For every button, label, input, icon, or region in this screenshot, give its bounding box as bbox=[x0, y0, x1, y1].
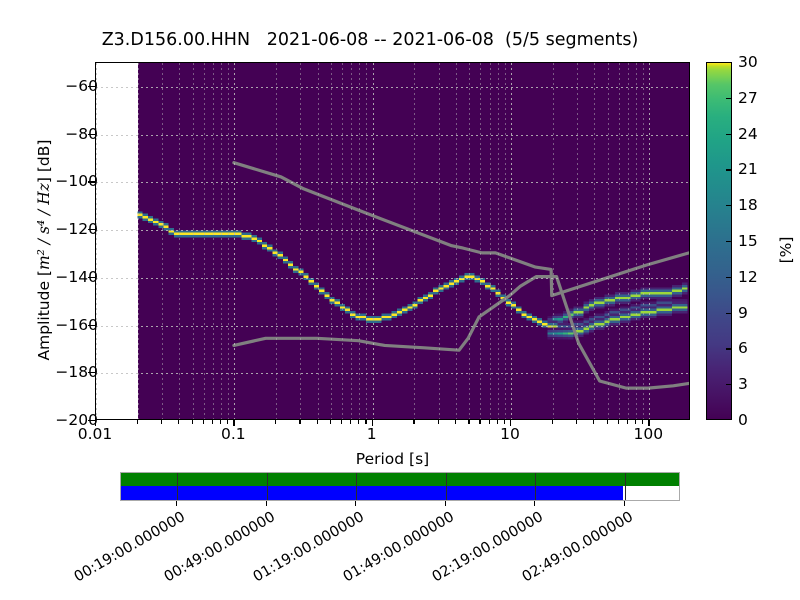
gridline-vertical bbox=[649, 63, 650, 419]
timeline-tick-mark bbox=[624, 501, 625, 506]
histogram-cell bbox=[651, 304, 656, 306]
x-axis-tick-mark-minor bbox=[642, 420, 643, 424]
histogram-cell bbox=[278, 254, 283, 256]
histogram-cell bbox=[651, 297, 656, 299]
histogram-cell bbox=[418, 299, 423, 301]
histogram-cell bbox=[392, 316, 397, 318]
histogram-cell bbox=[661, 294, 666, 296]
y-axis-tick-mark bbox=[88, 181, 95, 182]
histogram-cell bbox=[433, 290, 438, 292]
histogram-cell bbox=[542, 321, 547, 323]
histogram-cell bbox=[672, 299, 677, 301]
gridline-vertical-minor bbox=[490, 63, 491, 419]
histogram-cell bbox=[246, 237, 251, 239]
x-axis-tick-mark-minor bbox=[330, 420, 331, 424]
histogram-cell bbox=[656, 292, 661, 294]
histogram-cell bbox=[656, 309, 661, 311]
histogram-cell bbox=[563, 337, 568, 339]
histogram-cell bbox=[661, 292, 666, 294]
gridline-vertical-minor bbox=[577, 63, 578, 419]
histogram-cell bbox=[148, 218, 153, 220]
histogram-cell bbox=[682, 311, 687, 313]
histogram-cell bbox=[444, 285, 449, 287]
x-axis-tick-mark-minor bbox=[178, 420, 179, 424]
histogram-cell bbox=[288, 266, 293, 268]
histogram-cell bbox=[620, 309, 625, 311]
histogram-cell bbox=[267, 247, 272, 249]
y-axis-label: Amplitude [m² / s⁴ / Hz] [dB] bbox=[35, 40, 53, 460]
histogram-cell bbox=[661, 302, 666, 304]
histogram-cell bbox=[630, 309, 635, 311]
histogram-cell bbox=[630, 290, 635, 292]
histogram-cell bbox=[558, 335, 563, 337]
histogram-cell bbox=[610, 311, 615, 313]
histogram-cell bbox=[651, 294, 656, 296]
x-axis-tick-mark-minor bbox=[358, 420, 359, 424]
histogram-cell bbox=[527, 318, 532, 320]
timeline-tick-mark bbox=[445, 501, 446, 506]
histogram-cell bbox=[584, 302, 589, 304]
histogram-cell bbox=[578, 313, 583, 315]
histogram-cell bbox=[568, 332, 573, 334]
histogram-cell bbox=[630, 316, 635, 318]
histogram-cell bbox=[397, 313, 402, 315]
gridline-vertical bbox=[373, 63, 374, 419]
colorbar-tick-label: 30 bbox=[738, 53, 758, 71]
histogram-cell bbox=[215, 235, 220, 237]
histogram-cell bbox=[563, 328, 568, 330]
histogram-cell bbox=[677, 309, 682, 311]
histogram-cell bbox=[532, 321, 537, 323]
x-axis-tick-label: 100 bbox=[634, 425, 664, 443]
histogram-cell bbox=[578, 306, 583, 308]
x-axis-tick-mark-minor bbox=[497, 420, 498, 424]
histogram-cell bbox=[661, 306, 666, 308]
ppsd-plot-axes[interactable] bbox=[95, 62, 690, 420]
histogram-cell bbox=[402, 309, 407, 311]
histogram-cell bbox=[682, 304, 687, 306]
timeline-tick bbox=[267, 473, 268, 500]
page-title: Z3.D156.00.HHN 2021-06-08 -- 2021-06-08 … bbox=[0, 30, 740, 50]
colorbar-tick-mark bbox=[726, 277, 732, 278]
histogram-cell bbox=[407, 304, 412, 306]
histogram-cell bbox=[402, 306, 407, 308]
gridline-vertical-minor bbox=[204, 63, 205, 419]
histogram-cell bbox=[449, 280, 454, 282]
histogram-cell bbox=[257, 240, 262, 242]
histogram-cell bbox=[516, 309, 521, 311]
histogram-cell bbox=[236, 233, 241, 235]
histogram-cell bbox=[376, 318, 381, 320]
histogram-cell bbox=[661, 290, 666, 292]
histogram-cell bbox=[563, 316, 568, 318]
histogram-cell bbox=[656, 302, 661, 304]
gridline-vertical bbox=[511, 63, 512, 419]
histogram-cell bbox=[630, 299, 635, 301]
histogram-cell bbox=[656, 294, 661, 296]
histogram-cell bbox=[677, 299, 682, 301]
histogram-cell bbox=[651, 290, 656, 292]
y-axis-label-units: m² / s⁴ / Hz bbox=[35, 183, 53, 270]
colorbar-tick-label: 12 bbox=[738, 268, 758, 286]
histogram-cell bbox=[677, 292, 682, 294]
histogram-cell bbox=[667, 294, 672, 296]
histogram-cell bbox=[558, 332, 563, 334]
x-axis-tick-mark-minor bbox=[504, 420, 505, 424]
histogram-cell bbox=[407, 309, 412, 311]
histogram-cell bbox=[667, 297, 672, 299]
histogram-cell bbox=[682, 285, 687, 287]
histogram-cell bbox=[677, 311, 682, 313]
histogram-cell bbox=[682, 302, 687, 304]
histogram-cell bbox=[584, 311, 589, 313]
histogram-cell bbox=[288, 264, 293, 266]
histogram-cell bbox=[610, 316, 615, 318]
histogram-cell bbox=[667, 290, 672, 292]
histogram-cell bbox=[677, 290, 682, 292]
histogram-cell bbox=[381, 316, 386, 318]
histogram-cell bbox=[630, 294, 635, 296]
histogram-cell bbox=[630, 297, 635, 299]
gridline-horizontal bbox=[96, 278, 689, 279]
histogram-cell bbox=[651, 311, 656, 313]
histogram-cell bbox=[236, 235, 241, 237]
timeline-tick bbox=[625, 473, 626, 500]
histogram-cell bbox=[319, 290, 324, 292]
histogram-cell bbox=[304, 273, 309, 275]
histogram-cell bbox=[677, 306, 682, 308]
histogram-cell bbox=[335, 302, 340, 304]
histogram-cell bbox=[527, 316, 532, 318]
histogram-cell bbox=[335, 304, 340, 306]
histogram-cell bbox=[677, 287, 682, 289]
histogram-cell bbox=[610, 309, 615, 311]
histogram-cell bbox=[205, 235, 210, 237]
histogram-cell bbox=[584, 318, 589, 320]
histogram-cell bbox=[578, 309, 583, 311]
histogram-cell bbox=[578, 335, 583, 337]
x-axis-tick-mark bbox=[233, 420, 234, 426]
histogram-cell bbox=[153, 221, 158, 223]
x-axis-tick-mark-minor bbox=[212, 420, 213, 424]
histogram-cell bbox=[682, 306, 687, 308]
gridline-vertical-minor bbox=[498, 63, 499, 419]
histogram-cell bbox=[174, 233, 179, 235]
ppsd-data-area bbox=[96, 63, 689, 419]
gridline-vertical-minor bbox=[162, 63, 163, 419]
histogram-cell bbox=[252, 235, 257, 237]
histogram-cell bbox=[345, 311, 350, 313]
histogram-cell bbox=[584, 304, 589, 306]
x-axis-tick-mark-minor bbox=[438, 420, 439, 424]
histogram-cell bbox=[252, 237, 257, 239]
histogram-cell bbox=[599, 328, 604, 330]
histogram-cell bbox=[661, 313, 666, 315]
colorbar-tick-mark bbox=[726, 348, 732, 349]
histogram-cell bbox=[584, 330, 589, 332]
gridline-horizontal bbox=[96, 373, 689, 374]
histogram-cell bbox=[672, 304, 677, 306]
histogram-cell bbox=[589, 330, 594, 332]
histogram-cell bbox=[262, 242, 267, 244]
histogram-cell bbox=[651, 313, 656, 315]
gridline-vertical-minor bbox=[628, 63, 629, 419]
gridline-vertical-minor bbox=[505, 63, 506, 419]
gridline-vertical-minor bbox=[359, 63, 360, 419]
gridline-vertical-minor bbox=[643, 63, 644, 419]
gridline-vertical-minor bbox=[342, 63, 343, 419]
x-axis-tick-mark-minor bbox=[275, 420, 276, 424]
histogram-cell bbox=[423, 294, 428, 296]
gridline-vertical-minor bbox=[221, 63, 222, 419]
histogram-cell bbox=[143, 216, 148, 218]
gridline-vertical-minor bbox=[480, 63, 481, 419]
histogram-cell bbox=[578, 321, 583, 323]
histogram-cell bbox=[599, 313, 604, 315]
histogram-cell bbox=[630, 292, 635, 294]
histogram-cell bbox=[672, 311, 677, 313]
x-axis-tick-mark bbox=[510, 420, 511, 426]
histogram-cell bbox=[599, 321, 604, 323]
histogram-cell bbox=[433, 287, 438, 289]
colorbar-tick-mark bbox=[726, 205, 732, 206]
histogram-cell bbox=[682, 299, 687, 301]
histogram-cell bbox=[584, 321, 589, 323]
histogram-cell bbox=[589, 302, 594, 304]
y-axis-tick-mark bbox=[88, 325, 95, 326]
histogram-cell bbox=[661, 299, 666, 301]
histogram-cell bbox=[387, 313, 392, 315]
histogram-cell bbox=[651, 309, 656, 311]
gridline-vertical-minor bbox=[553, 63, 554, 419]
x-axis-tick-mark bbox=[648, 420, 649, 426]
histogram-cell bbox=[578, 328, 583, 330]
timeline-tick bbox=[177, 473, 178, 500]
histogram-cell bbox=[672, 309, 677, 311]
histogram-cell bbox=[589, 321, 594, 323]
histogram-cell bbox=[682, 292, 687, 294]
histogram-cell bbox=[610, 294, 615, 296]
histogram-cell bbox=[667, 309, 672, 311]
x-axis-tick-mark-minor bbox=[607, 420, 608, 424]
histogram-cell bbox=[387, 316, 392, 318]
histogram-cell bbox=[667, 306, 672, 308]
histogram-cell bbox=[475, 280, 480, 282]
y-axis-tick-mark bbox=[88, 277, 95, 278]
histogram-cell bbox=[620, 292, 625, 294]
histogram-cell bbox=[563, 335, 568, 337]
histogram-cell bbox=[257, 242, 262, 244]
histogram-cell bbox=[620, 311, 625, 313]
histogram-cell bbox=[610, 304, 615, 306]
histogram-cell bbox=[558, 321, 563, 323]
histogram-cell bbox=[361, 313, 366, 315]
histogram-cell bbox=[490, 285, 495, 287]
histogram-cell bbox=[153, 223, 158, 225]
histogram-cell bbox=[578, 316, 583, 318]
histogram-cell bbox=[387, 318, 392, 320]
histogram-cell bbox=[563, 330, 568, 332]
histogram-cell bbox=[293, 268, 298, 270]
histogram-cell bbox=[195, 235, 200, 237]
histogram-cell bbox=[449, 283, 454, 285]
colorbar-tick-mark bbox=[726, 169, 732, 170]
histogram-cell bbox=[397, 309, 402, 311]
histogram-cell bbox=[267, 249, 272, 251]
histogram-cell bbox=[672, 287, 677, 289]
histogram-cell bbox=[558, 337, 563, 339]
histogram-cell bbox=[610, 318, 615, 320]
gridline-vertical-minor bbox=[456, 63, 457, 419]
histogram-cell bbox=[319, 287, 324, 289]
x-axis-tick-mark-minor bbox=[203, 420, 204, 424]
histogram-cell bbox=[241, 237, 246, 239]
histogram-cell bbox=[599, 304, 604, 306]
x-axis-tick-mark-minor bbox=[552, 420, 553, 424]
histogram-cell bbox=[677, 302, 682, 304]
gridline-vertical-minor bbox=[228, 63, 229, 419]
histogram-cell bbox=[599, 316, 604, 318]
histogram-cell bbox=[667, 304, 672, 306]
timeline-tick-mark bbox=[176, 501, 177, 506]
timeline-tick-mark bbox=[266, 501, 267, 506]
histogram-cell bbox=[672, 285, 677, 287]
ppsd-histogram-canvas bbox=[96, 63, 689, 419]
x-axis-tick-mark bbox=[95, 420, 96, 426]
histogram-cell bbox=[620, 294, 625, 296]
gridline-vertical-minor bbox=[636, 63, 637, 419]
colorbar-tick-label: 21 bbox=[738, 160, 758, 178]
histogram-cell bbox=[143, 218, 148, 220]
histogram-cell bbox=[589, 309, 594, 311]
histogram-cell bbox=[449, 285, 454, 287]
histogram-cell bbox=[651, 306, 656, 308]
histogram-cell bbox=[283, 261, 288, 263]
gridline-vertical-minor bbox=[608, 63, 609, 419]
histogram-cell bbox=[143, 214, 148, 216]
histogram-cell bbox=[661, 304, 666, 306]
histogram-cell bbox=[682, 309, 687, 311]
timeline-coverage-bar[interactable] bbox=[120, 472, 680, 501]
x-axis-tick-mark-minor bbox=[192, 420, 193, 424]
histogram-cell bbox=[309, 283, 314, 285]
histogram-cell bbox=[656, 287, 661, 289]
histogram-cell bbox=[418, 302, 423, 304]
histogram-cell bbox=[262, 245, 267, 247]
histogram-cell bbox=[267, 245, 272, 247]
histogram-cell bbox=[667, 313, 672, 315]
colorbar-tick-mark bbox=[726, 98, 732, 99]
histogram-cell bbox=[599, 318, 604, 320]
histogram-cell bbox=[361, 316, 366, 318]
gridline-horizontal bbox=[96, 87, 689, 88]
x-axis-tick-label: 0.01 bbox=[78, 425, 113, 443]
timeline-tick-mark bbox=[355, 501, 356, 506]
histogram-cell bbox=[558, 316, 563, 318]
histogram-cell bbox=[428, 292, 433, 294]
colorbar-tick-label: 24 bbox=[738, 125, 758, 143]
histogram-cell bbox=[402, 311, 407, 313]
histogram-cell bbox=[630, 304, 635, 306]
gridline-vertical bbox=[234, 63, 235, 419]
histogram-cell bbox=[428, 294, 433, 296]
gridline-vertical-minor bbox=[138, 63, 139, 419]
histogram-cell bbox=[215, 233, 220, 235]
x-axis-tick-mark-minor bbox=[299, 420, 300, 424]
histogram-cell bbox=[444, 283, 449, 285]
histogram-cell bbox=[459, 280, 464, 282]
histogram-cell bbox=[568, 335, 573, 337]
histogram-cell bbox=[682, 290, 687, 292]
histogram-cell bbox=[516, 306, 521, 308]
histogram-cell bbox=[163, 226, 168, 228]
histogram-cell bbox=[169, 233, 174, 235]
histogram-cell bbox=[620, 318, 625, 320]
histogram-cell bbox=[246, 235, 251, 237]
x-axis-tick-mark-minor bbox=[317, 420, 318, 424]
histogram-cell bbox=[174, 235, 179, 237]
histogram-cell bbox=[319, 292, 324, 294]
histogram-cell bbox=[661, 297, 666, 299]
gridline-horizontal bbox=[96, 182, 689, 183]
colorbar-tick-label: 6 bbox=[738, 339, 748, 357]
histogram-cell bbox=[589, 318, 594, 320]
gridline-vertical-minor bbox=[366, 63, 367, 419]
histogram-cell bbox=[599, 306, 604, 308]
histogram-cell bbox=[558, 328, 563, 330]
x-axis-tick-mark-minor bbox=[455, 420, 456, 424]
histogram-cell bbox=[651, 287, 656, 289]
histogram-cell bbox=[578, 332, 583, 334]
histogram-cell bbox=[589, 306, 594, 308]
histogram-cell bbox=[252, 240, 257, 242]
histogram-cell bbox=[324, 294, 329, 296]
timeline-data-coverage bbox=[121, 473, 679, 486]
histogram-cell bbox=[444, 287, 449, 289]
x-axis-tick-mark-minor bbox=[227, 420, 228, 424]
colorbar-tick-label: 3 bbox=[738, 375, 748, 393]
histogram-cell bbox=[568, 337, 573, 339]
gridline-horizontal bbox=[96, 326, 689, 327]
histogram-cell bbox=[656, 311, 661, 313]
histogram-cell bbox=[392, 313, 397, 315]
histogram-cell bbox=[262, 247, 267, 249]
x-axis-tick-mark-minor bbox=[220, 420, 221, 424]
histogram-cell bbox=[278, 252, 283, 254]
colorbar-tick-mark bbox=[726, 384, 732, 385]
histogram-cell bbox=[599, 302, 604, 304]
gridline-vertical-minor bbox=[414, 63, 415, 419]
histogram-cell bbox=[610, 297, 615, 299]
histogram-cell bbox=[584, 306, 589, 308]
histogram-cell bbox=[651, 302, 656, 304]
gridline-vertical-minor bbox=[193, 63, 194, 419]
y-axis-tick-mark bbox=[88, 420, 95, 421]
histogram-cell bbox=[667, 311, 672, 313]
x-axis-tick-mark-minor bbox=[468, 420, 469, 424]
x-axis-tick-mark-minor bbox=[350, 420, 351, 424]
histogram-cell bbox=[423, 299, 428, 301]
histogram-cell bbox=[589, 299, 594, 301]
gridline-vertical-minor bbox=[594, 63, 595, 419]
histogram-cell bbox=[620, 306, 625, 308]
histogram-cell bbox=[656, 304, 661, 306]
colorbar-tick-label: 27 bbox=[738, 89, 758, 107]
colorbar-tick-mark bbox=[726, 241, 732, 242]
histogram-cell bbox=[532, 318, 537, 320]
x-axis-tick-mark-minor bbox=[635, 420, 636, 424]
timeline-tick bbox=[535, 473, 536, 500]
